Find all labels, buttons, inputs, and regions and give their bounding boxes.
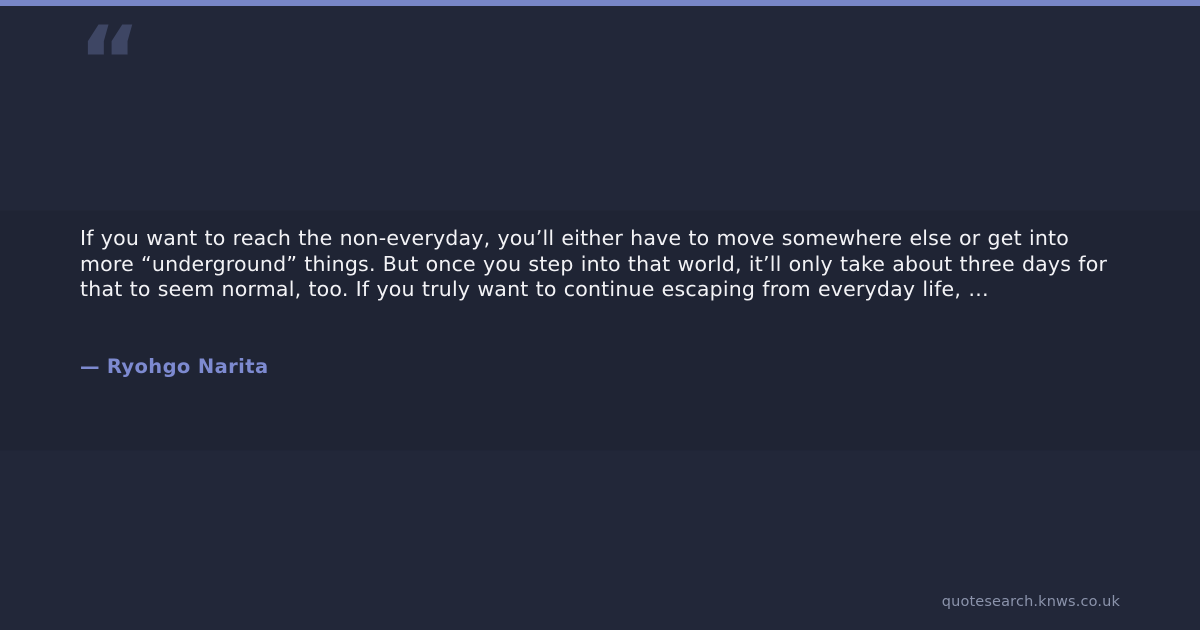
quote-body: If you want to reach the non-everyday, y… [80, 226, 1110, 303]
attribution-author: Ryohgo Narita [107, 355, 269, 378]
attribution-dash: — [80, 355, 100, 378]
site-url-footer: quotesearch.knws.co.uk [942, 594, 1120, 610]
quote-text: If you want to reach the non-everyday, y… [80, 226, 1110, 303]
quote-card: “ If you want to reach the non-everyday,… [0, 0, 1200, 630]
top-accent-bar [0, 0, 1200, 6]
quotation-mark-icon: “ [78, 14, 139, 110]
quote-attribution: —Ryohgo Narita [80, 355, 269, 378]
